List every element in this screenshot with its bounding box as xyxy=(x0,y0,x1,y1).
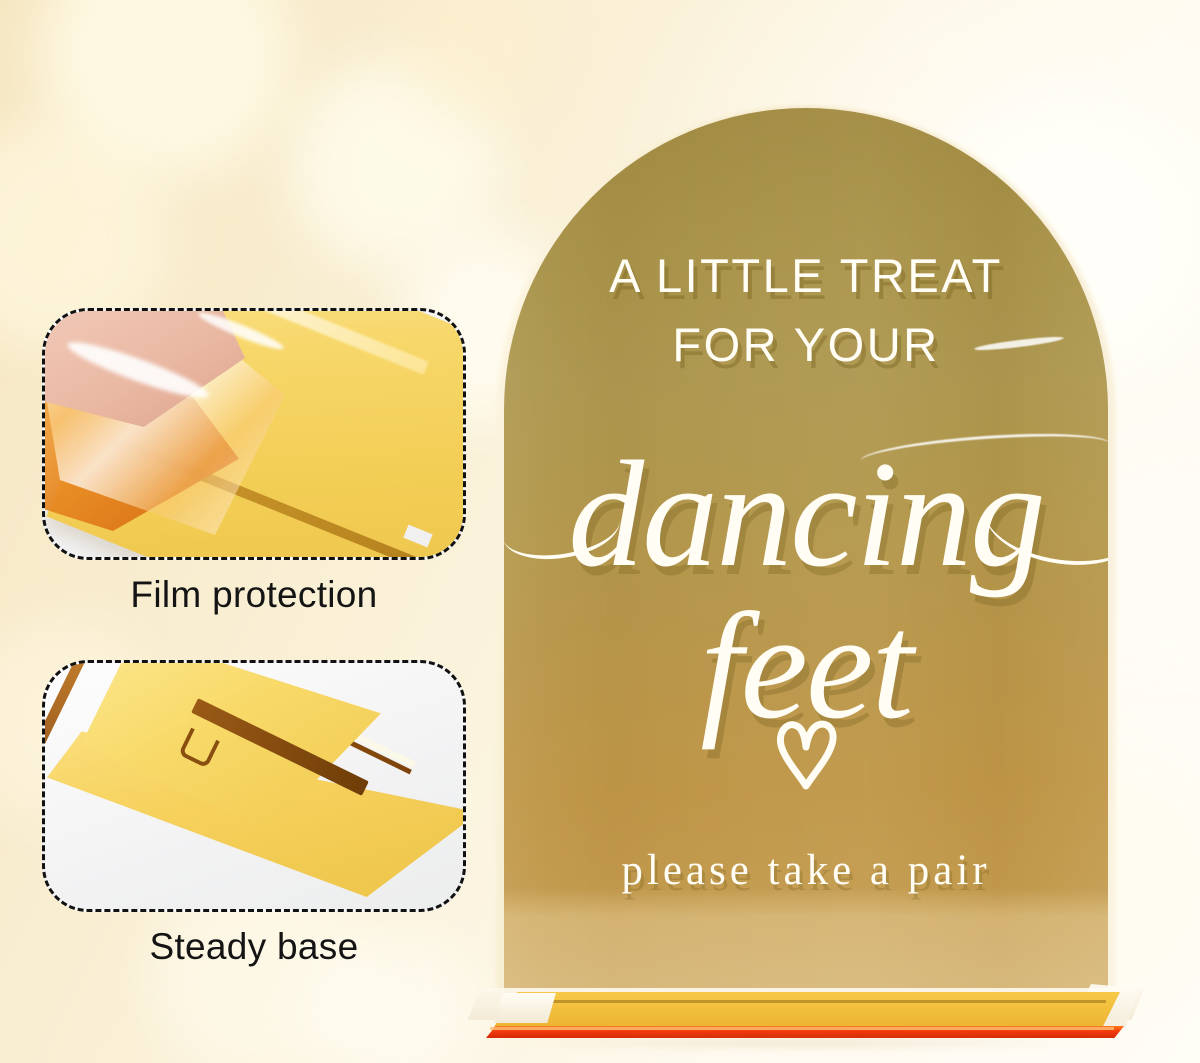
acrylic-arch-sign: A LITTLE TREAT FOR YOUR dancing feet ple… xyxy=(466,100,1146,1063)
base-edge-gloss xyxy=(490,1027,1114,1030)
heart-outline-icon xyxy=(771,716,841,792)
headline-line-2: FOR YOUR xyxy=(504,311,1108,380)
sign-face: A LITTLE TREAT FOR YOUR dancing feet ple… xyxy=(504,108,1108,996)
feature-label: Steady base xyxy=(42,926,466,968)
sign-headline: A LITTLE TREAT FOR YOUR xyxy=(504,242,1108,379)
feature-image-card xyxy=(42,660,466,912)
sign-reflection-band xyxy=(504,888,1108,996)
feature-steady-base: Steady base xyxy=(42,660,466,968)
base-slab xyxy=(492,992,1120,1030)
feature-image-card xyxy=(42,308,466,560)
base-notch-left xyxy=(494,993,556,1023)
sign-heart-wrap xyxy=(504,716,1108,797)
headline-line-1: A LITTLE TREAT xyxy=(504,242,1108,311)
product-image-canvas: A LITTLE TREAT FOR YOUR dancing feet ple… xyxy=(0,0,1200,1063)
feature-film-protection: Film protection xyxy=(42,308,466,616)
base-shadow xyxy=(496,1036,1116,1050)
sign-tagline: please take a pair xyxy=(504,846,1108,895)
feature-label: Film protection xyxy=(42,574,466,616)
base-groove xyxy=(510,1000,1106,1003)
sign-script-wrap: dancing feet xyxy=(504,438,1108,648)
